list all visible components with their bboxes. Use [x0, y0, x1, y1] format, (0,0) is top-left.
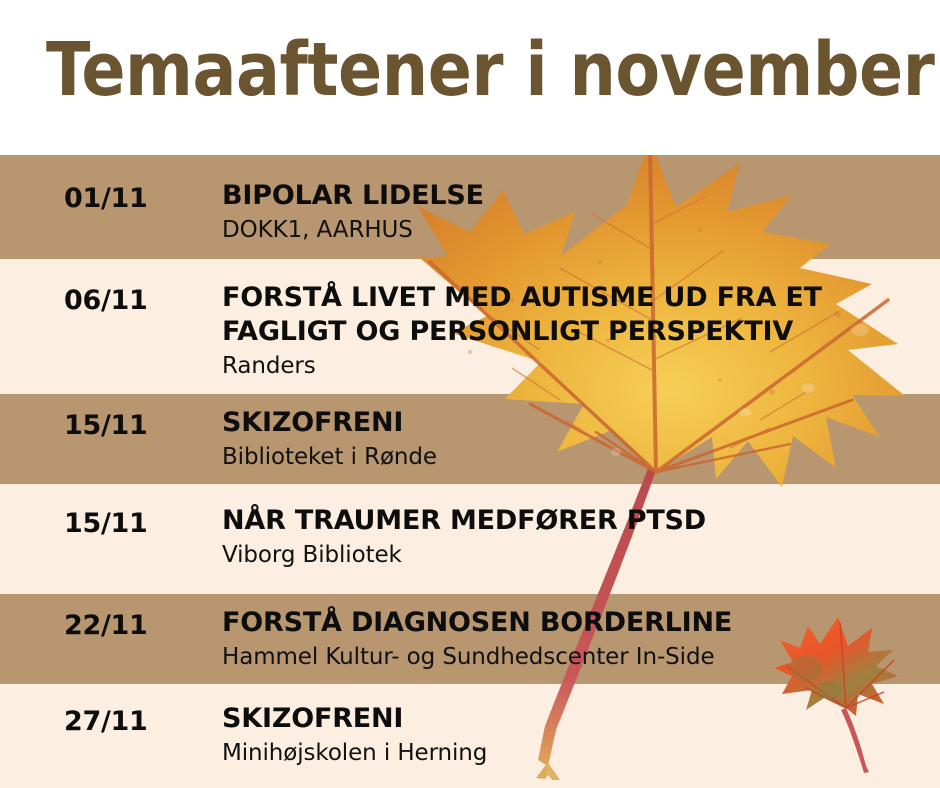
event-title: BIPOLAR LIDELSE	[222, 179, 922, 213]
event-row-6: 27/11 SKIZOFRENI Minihøjskolen i Herning	[0, 684, 940, 788]
event-title: FORSTÅ DIAGNOSEN BORDERLINE	[222, 606, 922, 640]
event-date: 15/11	[64, 508, 204, 539]
event-title: NÅR TRAUMER MEDFØRER PTSD	[222, 504, 922, 538]
event-date: 01/11	[64, 183, 204, 214]
event-details: BIPOLAR LIDELSE DOKK1, AARHUS	[222, 179, 922, 245]
event-details: NÅR TRAUMER MEDFØRER PTSD Viborg Bibliot…	[222, 504, 922, 570]
event-title: FORSTÅ LIVET MED AUTISME UD FRA ET FAGLI…	[222, 281, 922, 349]
event-details: FORSTÅ LIVET MED AUTISME UD FRA ET FAGLI…	[222, 281, 922, 381]
event-title: SKIZOFRENI	[222, 406, 922, 440]
event-title: SKIZOFRENI	[222, 702, 922, 736]
event-location: Randers	[222, 351, 922, 381]
event-location: Minihøjskolen i Herning	[222, 738, 922, 768]
page-title: Temaaftener i november	[46, 27, 934, 113]
event-details: FORSTÅ DIAGNOSEN BORDERLINE Hammel Kultu…	[222, 606, 922, 672]
event-location: Biblioteket i Rønde	[222, 442, 922, 472]
header-band: Temaaftener i november	[0, 0, 940, 155]
event-row-1: 01/11 BIPOLAR LIDELSE DOKK1, AARHUS	[0, 155, 940, 259]
event-details: SKIZOFRENI Biblioteket i Rønde	[222, 406, 922, 472]
poster-canvas: Temaaftener i november 01/11 BIPOLAR LID…	[0, 0, 940, 788]
event-date: 27/11	[64, 706, 204, 737]
event-details: SKIZOFRENI Minihøjskolen i Herning	[222, 702, 922, 768]
event-date: 22/11	[64, 610, 204, 641]
event-location: Viborg Bibliotek	[222, 540, 922, 570]
event-location: Hammel Kultur- og Sundhedscenter In-Side	[222, 642, 922, 672]
event-row-2: 06/11 FORSTÅ LIVET MED AUTISME UD FRA ET…	[0, 259, 940, 394]
event-row-5: 22/11 FORSTÅ DIAGNOSEN BORDERLINE Hammel…	[0, 594, 940, 684]
event-row-4: 15/11 NÅR TRAUMER MEDFØRER PTSD Viborg B…	[0, 484, 940, 594]
event-date: 06/11	[64, 285, 204, 316]
event-row-3: 15/11 SKIZOFRENI Biblioteket i Rønde	[0, 394, 940, 484]
event-date: 15/11	[64, 410, 204, 441]
event-location: DOKK1, AARHUS	[222, 215, 922, 245]
